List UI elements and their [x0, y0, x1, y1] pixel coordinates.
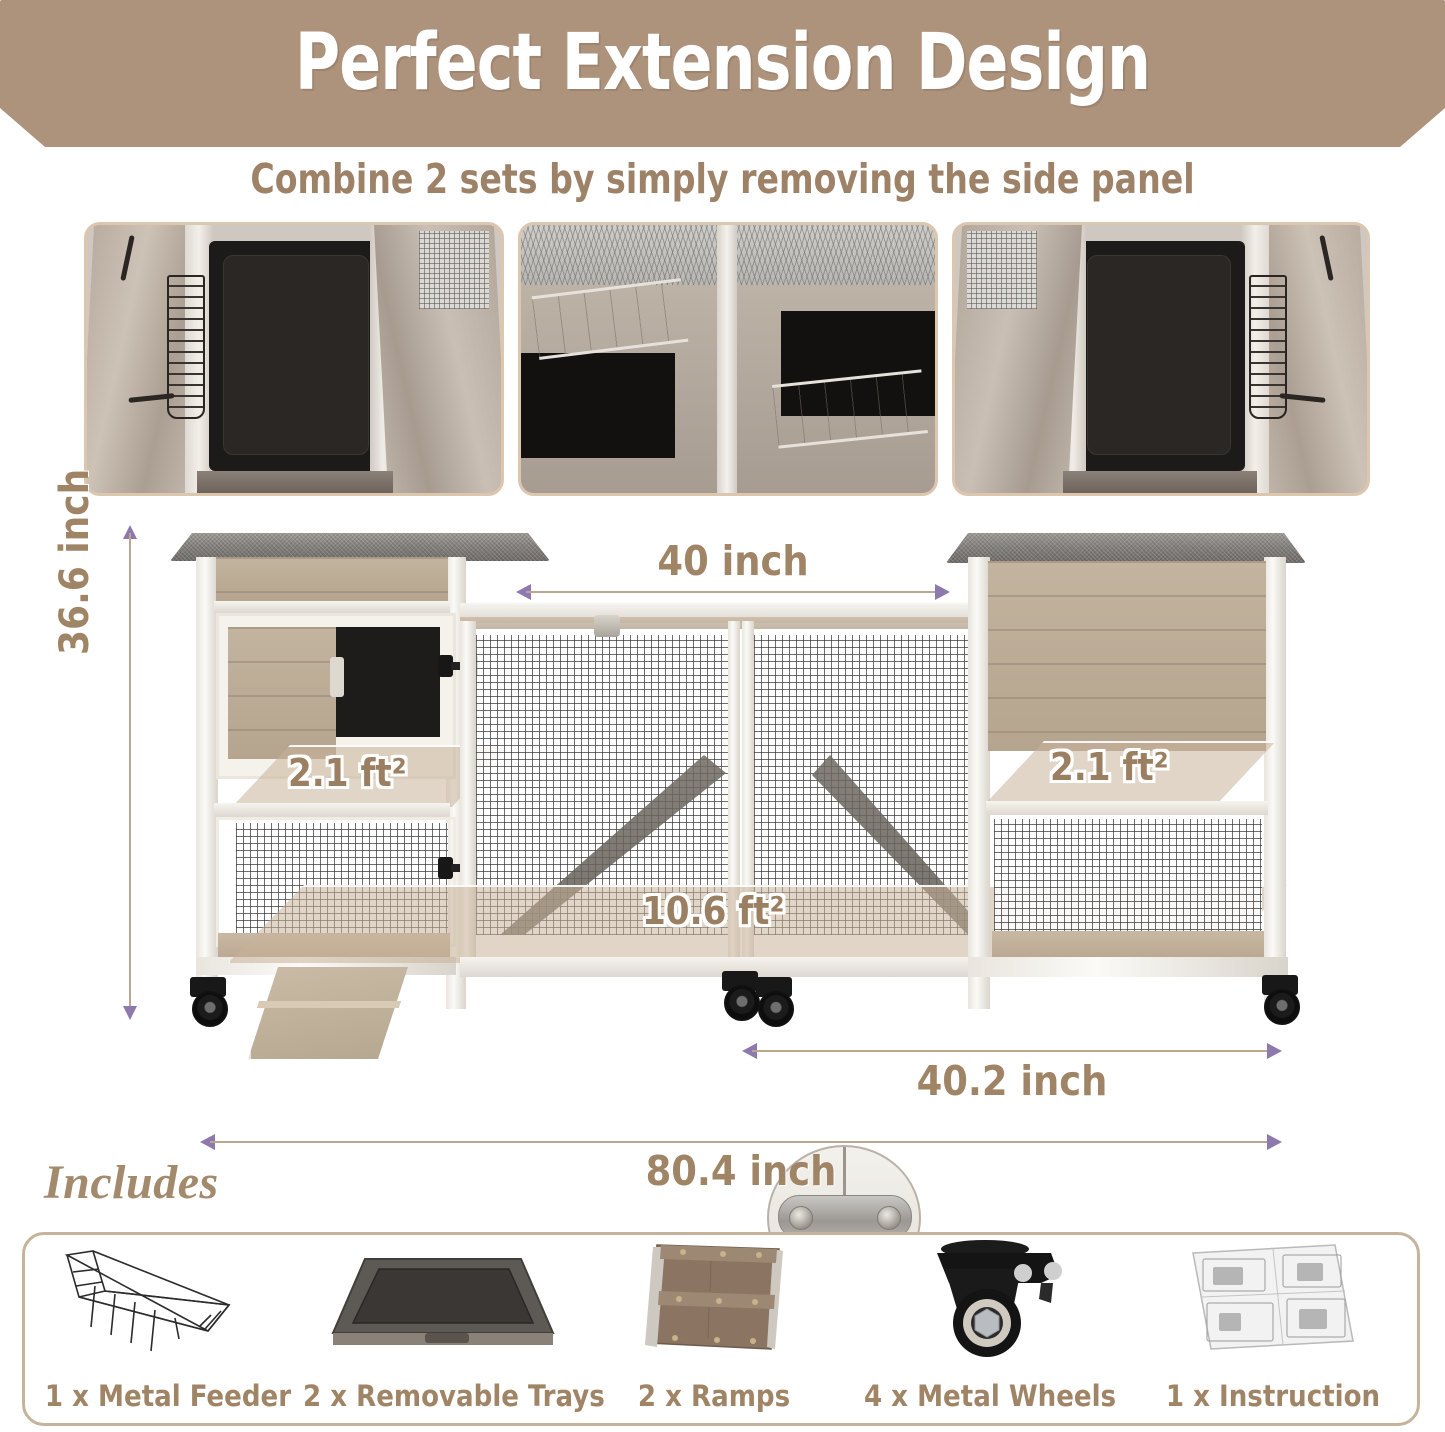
area-label-right-upper: 2.1 ft² — [1050, 745, 1169, 789]
include-item-metal-feeder: 1 x Metal Feeder — [33, 1235, 303, 1423]
instruction-sheet-icon — [1135, 1239, 1411, 1359]
photo-interior-right — [952, 222, 1370, 496]
wire-feeder-icon — [33, 1239, 303, 1359]
door-left-opening — [336, 627, 440, 737]
caster-wheel-icon — [845, 1239, 1135, 1359]
removable-tray — [1075, 241, 1245, 471]
screw-icon — [877, 1206, 901, 1230]
tray-icon — [303, 1239, 583, 1359]
wire-mesh-ceiling — [521, 225, 719, 289]
page-title: Perfect Extension Design — [87, 18, 1359, 108]
photo-two-sets-joined — [518, 222, 938, 496]
ramp-left — [248, 967, 411, 1059]
include-label-instruction: 1 x Instruction — [1135, 1379, 1411, 1413]
post-left-outer — [196, 557, 218, 1009]
dimension-height-line — [120, 525, 140, 1020]
include-item-instruction: 1 x Instruction — [1135, 1235, 1411, 1423]
include-item-removable-trays: 2 x Removable Trays — [303, 1235, 583, 1423]
include-item-ramps: 2 x Ramps — [583, 1235, 845, 1423]
center-joining-post — [717, 225, 739, 493]
wire-mesh — [419, 231, 489, 309]
wall-left-top — [216, 557, 448, 603]
caster-wheel-icon — [752, 977, 796, 1023]
door-latch[interactable] — [330, 657, 344, 697]
caster-wheel-icon — [186, 977, 230, 1023]
page-subtitle: Combine 2 sets by simply removing the si… — [72, 155, 1373, 203]
dimension-label-right-width: 40.2 inch — [742, 1057, 1282, 1105]
area-label-left-upper: 2.1 ft² — [288, 751, 407, 795]
dimension-label-height: 36.6 inch — [52, 469, 98, 655]
dimension-top-width-line — [516, 583, 950, 601]
include-label-ramps: 2 x Ramps — [583, 1379, 845, 1413]
right-section — [737, 225, 935, 493]
wire-mesh — [967, 231, 1037, 309]
include-label-metal-feeder: 1 x Metal Feeder — [33, 1379, 303, 1413]
mesh-right-lower — [994, 819, 1262, 937]
include-label-metal-wheels: 4 x Metal Wheels — [845, 1379, 1135, 1413]
ramp-icon — [583, 1239, 845, 1359]
area-label-run-floor: 10.6 ft² — [642, 889, 784, 933]
product-dimension-diagram: 2.1 ft² 10.6 ft² — [0, 505, 1445, 1185]
screw-icon — [789, 1206, 813, 1230]
includes-heading: Includes — [44, 1155, 219, 1210]
post-right-outer — [1264, 557, 1286, 1009]
caster-wheel-icon — [1258, 975, 1302, 1021]
removable-tray — [209, 241, 381, 471]
wall-right — [988, 561, 1266, 751]
photo-strip — [84, 222, 1364, 490]
include-item-metal-wheels: 4 x Metal Wheels — [845, 1235, 1135, 1423]
roof-right — [946, 533, 1306, 563]
photo-interior-left — [84, 222, 504, 496]
dimension-label-total-width: 80.4 inch — [200, 1147, 1282, 1195]
post-right-inner — [968, 557, 990, 1009]
include-label-removable-trays: 2 x Removable Trays — [303, 1379, 583, 1413]
wire-mesh-ceiling — [737, 225, 935, 289]
left-section — [521, 225, 719, 493]
includes-panel: 1 x Metal Feeder 2 x Removable Trays — [22, 1232, 1420, 1426]
dimension-label-top-width: 40 inch — [516, 537, 950, 585]
run-latch[interactable] — [594, 615, 620, 637]
